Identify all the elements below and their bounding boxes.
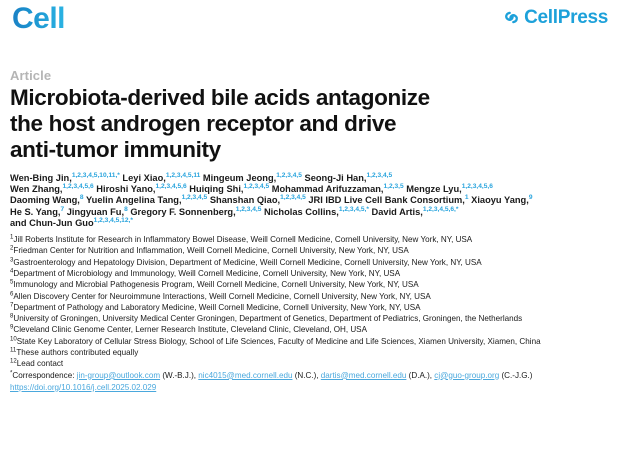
affiliation-item: 5Immunology and Microbial Pathogenesis P… [10, 279, 612, 290]
author-line: Wen-Bing Jin,1,2,3,4,5,10,11,* Leyi Xiao… [10, 173, 612, 184]
affiliation-item: 4Department of Microbiology and Immunolo… [10, 268, 612, 279]
affiliation-number: 11 [10, 346, 16, 353]
masthead: Cell CellPress [10, 0, 612, 56]
affiliation-number: 6 [10, 290, 13, 297]
affiliation-item: 11These authors contributed equally [10, 347, 612, 358]
doi-link[interactable]: https://doi.org/10.1016/j.cell.2025.02.0… [10, 382, 612, 394]
author-affiliation-superscript: 1,2,3,4,5 [236, 206, 262, 213]
author-affiliation-superscript: 1,2,3,5 [384, 183, 404, 190]
affiliation-item: 10State Key Laboratory of Cellular Stres… [10, 336, 612, 347]
affiliation-number: 12 [10, 358, 17, 365]
author-line: Wen Zhang,1,2,3,4,5,6 Hiroshi Yano,1,2,3… [10, 184, 612, 195]
affiliation-number: 4 [10, 267, 13, 274]
affiliation-item: 6Allen Discovery Center for Neuroimmune … [10, 291, 612, 302]
cellpress-logo[interactable]: CellPress [503, 4, 612, 27]
article-cover-page: Cell CellPress Article Microbiota-derive… [0, 0, 622, 458]
author-affiliation-superscript: 1,2,3,4,5 [367, 172, 393, 179]
affiliation-item: 9Cleveland Clinic Genome Center, Lerner … [10, 324, 612, 335]
author-affiliation-superscript: 8 [124, 206, 128, 213]
correspondence-email-link[interactable]: dartis@med.cornell.edu [321, 371, 407, 380]
affiliation-number: 8 [10, 312, 13, 319]
affiliation-list: 1Jill Roberts Institute for Research in … [10, 234, 612, 370]
cell-journal-logo[interactable]: Cell [10, 4, 65, 34]
correspondence-block: *Correspondence: jin-group@outlook.com (… [10, 370, 612, 381]
author-affiliation-superscript: 1,2,3,4,5 [276, 172, 302, 179]
article-type-label: Article [10, 68, 612, 83]
correspondence-email-link[interactable]: jin-group@outlook.com [77, 371, 160, 380]
affiliation-number: 7 [10, 301, 13, 308]
author-affiliation-superscript: 7 [60, 206, 64, 213]
affiliation-number: 10 [10, 335, 17, 342]
author-affiliation-superscript: 1 [465, 194, 469, 201]
affiliation-number: 3 [10, 256, 13, 263]
author-affiliation-superscript: 1,2,3,4,5,11 [166, 172, 200, 179]
affiliation-number: 9 [10, 324, 13, 331]
affiliation-number: 5 [10, 279, 13, 286]
author-affiliation-superscript: 1,2,3,4,5,6 [156, 183, 187, 190]
author-affiliation-superscript: 1,2,3,4,5 [280, 194, 306, 201]
affiliation-item: 1Jill Roberts Institute for Research in … [10, 234, 612, 245]
author-list: Wen-Bing Jin,1,2,3,4,5,10,11,* Leyi Xiao… [10, 173, 612, 229]
affiliation-item: 2Friedman Center for Nutrition and Infla… [10, 245, 612, 256]
affiliation-item: 3Gastroenterology and Hepatology Divisio… [10, 257, 612, 268]
author-affiliation-superscript: 1,2,3,4,5 [244, 183, 270, 190]
affiliation-number: 1 [10, 233, 13, 240]
author-affiliation-superscript: 1,2,3,4,5,10,11,* [72, 172, 120, 179]
cellpress-chain-icon [503, 9, 520, 26]
author-affiliation-superscript: 1,2,3,4,5 [182, 194, 208, 201]
author-affiliation-superscript: 1,2,3,4,5,12,* [94, 217, 133, 224]
page-title: Microbiota-derived bile acids antagonize… [10, 85, 440, 163]
correspondence-email-link[interactable]: nic4015@med.cornell.edu [198, 371, 292, 380]
author-affiliation-superscript: 1,2,3,4,5,6,* [423, 206, 459, 213]
author-line: and Chun-Jun Guo1,2,3,4,5,12,* [10, 218, 612, 229]
author-affiliation-superscript: 1,2,3,4,5,6 [63, 183, 94, 190]
cellpress-wordmark: CellPress [524, 8, 608, 27]
author-affiliation-superscript: 1,2,3,4,5,* [339, 206, 369, 213]
affiliation-item: 8University of Groningen, University Med… [10, 313, 612, 324]
author-affiliation-superscript: 9 [529, 194, 533, 201]
correspondence-marker: * [10, 369, 12, 376]
affiliation-item: 7Department of Pathology and Laboratory … [10, 302, 612, 313]
correspondence-email-link[interactable]: cj@guo-group.org [434, 371, 499, 380]
author-line: Daoming Wang,8 Yuelin Angelina Tang,1,2,… [10, 195, 612, 206]
author-affiliation-superscript: 1,2,3,4,5,6 [462, 183, 493, 190]
affiliation-item: 12Lead contact [10, 358, 612, 369]
author-affiliation-superscript: 8 [80, 194, 84, 201]
affiliation-number: 2 [10, 245, 13, 252]
